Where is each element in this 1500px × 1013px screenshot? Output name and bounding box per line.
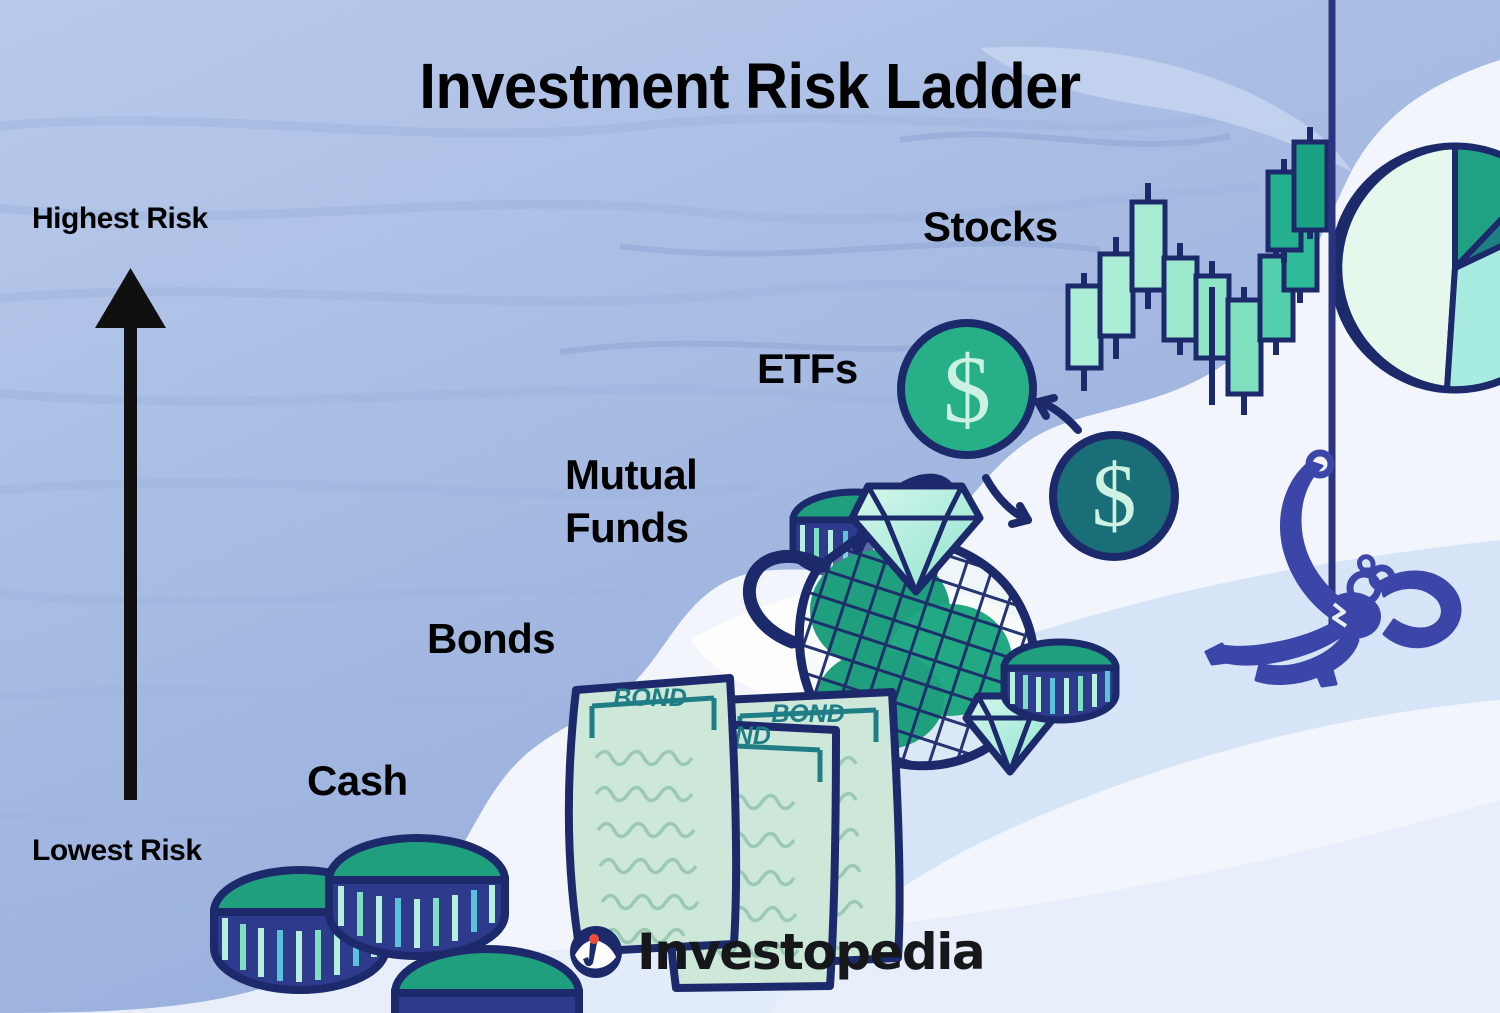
- ladder-label-mutual-funds: Mutual Funds: [565, 448, 697, 554]
- infographic-canvas: $ $: [0, 0, 1500, 1013]
- investopedia-wordmark: Investopedia: [637, 923, 984, 981]
- cash-coins: [0, 0, 1500, 1013]
- mutual-funds-line-2: Funds: [565, 501, 697, 554]
- ladder-label-bonds: Bonds: [427, 615, 555, 663]
- page-title: Investment Risk Ladder: [53, 50, 1448, 122]
- cash-coin: [329, 838, 505, 956]
- mutual-funds-line-1: Mutual: [565, 448, 697, 501]
- ladder-label-etfs: ETFs: [757, 345, 858, 393]
- highest-risk-label: Highest Risk: [32, 202, 208, 236]
- investopedia-i-circle-icon: [569, 925, 623, 979]
- lowest-risk-label: Lowest Risk: [32, 834, 202, 868]
- ladder-label-stocks: Stocks: [923, 203, 1058, 251]
- cash-coin: [395, 949, 579, 1013]
- ladder-label-cash: Cash: [307, 757, 408, 805]
- investopedia-logo: Investopedia: [569, 923, 984, 981]
